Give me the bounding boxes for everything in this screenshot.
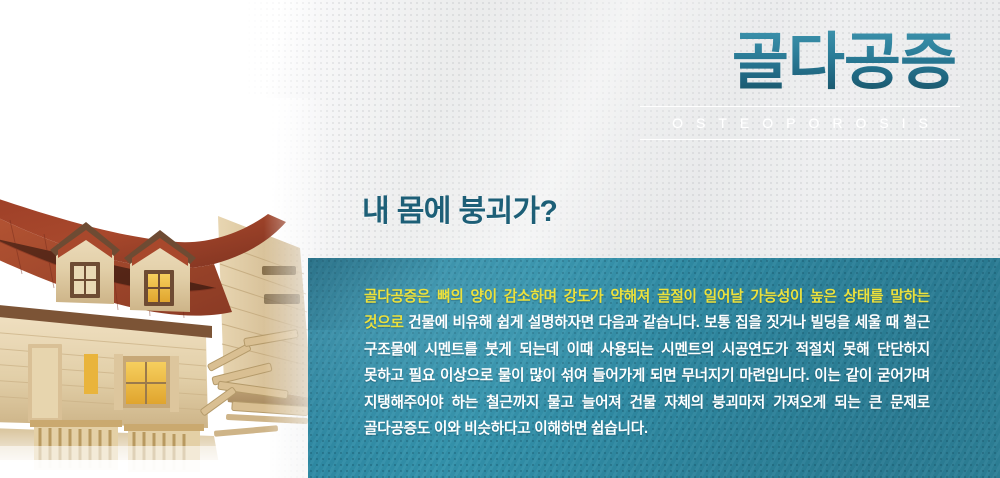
description-text-block: 골다공증은 뼈의 양이 감소하며 강도가 약해져 골절이 일어날 가능성이 높은… [308, 258, 1000, 442]
brand-subtitle: OSTEOPOROSIS [640, 114, 960, 132]
osteoporosis-info-banner: 골다공증 OSTEOPOROSIS 내 몸에 붕괴가? 골다공증은 뼈의 양이 … [0, 0, 1000, 478]
brand-logo-block: 골다공증 OSTEOPOROSIS [640, 26, 960, 140]
collapsing-house-photo [0, 98, 330, 478]
brand-title: 골다공증 [640, 26, 960, 100]
brand-subtitle-rule: OSTEOPOROSIS [640, 106, 960, 140]
page-headline: 내 몸에 붕괴가? [362, 192, 557, 232]
description-panel: 골다공증은 뼈의 양이 감소하며 강도가 약해져 골절이 일어날 가능성이 높은… [308, 258, 1000, 478]
description-rest-sentence: 건물에 비유해 쉽게 설명하자면 다음과 같습니다. 보통 집을 짓거나 빌딩을… [364, 315, 930, 437]
description-paragraph: 골다공증은 뼈의 양이 감소하며 강도가 약해져 골절이 일어날 가능성이 높은… [364, 284, 930, 442]
